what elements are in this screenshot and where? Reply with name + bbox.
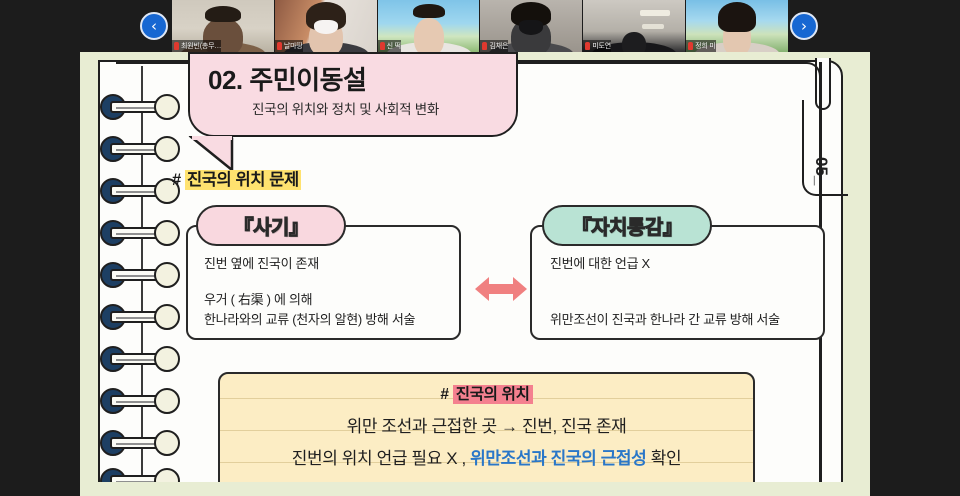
- participant-namebar: 정희 미: [686, 40, 715, 52]
- summary-line: 진번의 위치 언급 필요 X , 위만조선과 진국의 근접성 확인: [220, 444, 753, 469]
- source-label-text: 『자치통감』: [572, 211, 683, 240]
- participant-tile[interactable]: 날마땅: [275, 0, 377, 52]
- participant-hair: [205, 6, 241, 22]
- page-number: 05_: [811, 157, 831, 187]
- participant-namebar: 신 떡: [378, 40, 401, 52]
- hash-marker: #: [440, 386, 452, 403]
- microphone-muted-icon: [482, 42, 487, 50]
- summary-line: 위만 조선과 근접한 곳 → 진번, 진국 존재: [220, 412, 753, 437]
- ceiling-light: [642, 24, 664, 29]
- face-mask: [314, 20, 338, 34]
- source-label-text: 『사기』: [234, 211, 309, 240]
- microphone-muted-icon: [380, 42, 385, 50]
- microphone-muted-icon: [174, 42, 179, 50]
- participant-tile[interactable]: 김채은: [480, 0, 582, 52]
- ring-right-cap: [154, 220, 180, 246]
- ceiling-light: [640, 10, 670, 16]
- spiral-ring: [100, 304, 180, 330]
- spiral-ring: [100, 346, 180, 372]
- card-line: 한나라와의 교류 (천자의 알현) 방해 서술: [204, 309, 415, 328]
- spiral-ring: [100, 136, 180, 162]
- participant-name: 미도연: [592, 41, 611, 51]
- slide-title-bubble: 02. 주민이동설 진국의 위치와 정치 및 사회적 변화: [188, 52, 518, 137]
- ring-right-cap: [154, 346, 180, 372]
- spiral-ring: [100, 94, 180, 120]
- participant-face: [414, 18, 444, 52]
- ring-right-cap: [154, 430, 180, 456]
- spiral-ring: [100, 430, 180, 456]
- summary-line-part: 확인: [646, 449, 681, 468]
- ring-right-cap: [154, 262, 180, 288]
- summary-line-emphasis: 위만조선과 진국의 근접성: [470, 449, 646, 468]
- participant-face: [622, 32, 646, 52]
- participant-tiles: 최원빈(총무… 날마땅 신 떡: [172, 0, 788, 52]
- video-filmstrip: ‹ 최원빈(총무… 날마땅: [0, 0, 960, 52]
- participant-name: 최원빈(총무…: [181, 41, 221, 51]
- ring-right-cap: [154, 304, 180, 330]
- card-line: 위만조선이 진국과 한나라 간 교류 방해 서술: [550, 309, 780, 328]
- summary-heading: # 진국의 위치: [220, 382, 753, 404]
- summary-heading-text: 진국의 위치: [453, 385, 533, 404]
- ring-right-cap: [154, 136, 180, 162]
- slide-bottom-band: [80, 488, 870, 496]
- participant-namebar: 최원빈(총무…: [172, 40, 221, 52]
- microphone-muted-icon: [688, 42, 693, 50]
- double-arrow-icon: [475, 274, 527, 304]
- ring-right-cap: [154, 388, 180, 414]
- participant-namebar: 미도연: [583, 40, 611, 52]
- source-card-sagi: 『사기』 진번 옆에 진국이 존재 우거 ( 右渠 ) 에 의해 한나라와의 교…: [186, 225, 461, 340]
- previous-participants-button[interactable]: ‹: [140, 12, 168, 40]
- summary-box: # 진국의 위치 위만 조선과 근접한 곳 → 진번, 진국 존재 진번의 위치…: [218, 372, 755, 496]
- participant-tile[interactable]: 신 떡: [378, 0, 480, 52]
- participant-tile[interactable]: 최원빈(총무…: [172, 0, 274, 52]
- participant-namebar: 날마땅: [275, 40, 303, 52]
- participant-name: 김채은: [489, 41, 508, 51]
- spiral-ring: [100, 178, 180, 204]
- face-mask: [519, 20, 543, 35]
- section-heading-text: 진국의 위치 문제: [185, 170, 301, 190]
- chevron-right-icon: ›: [792, 14, 816, 38]
- microphone-muted-icon: [277, 42, 282, 50]
- next-participants-button[interactable]: ›: [790, 12, 818, 40]
- page-subtitle: 진국의 위치와 정치 및 사회적 변화: [252, 98, 439, 118]
- participant-hair: [413, 4, 445, 18]
- participant-namebar: 김채은: [480, 40, 508, 52]
- participant-name: 정희 미: [695, 41, 715, 51]
- summary-line-part: 진번의 위치 언급 필요 X ,: [292, 449, 470, 468]
- ring-right-cap: [154, 94, 180, 120]
- spiral-ring: [100, 262, 180, 288]
- participant-hair: [718, 2, 756, 32]
- shared-slide: 05_ 02. 주민이동설 진국의 위치와 정치 및 사회적 변화 # 진국의 …: [80, 52, 870, 496]
- source-label-badge: 『사기』: [196, 205, 346, 246]
- spiral-binding: [96, 66, 188, 496]
- card-line: 진번에 대한 언급 X: [550, 253, 650, 272]
- spiral-ring: [100, 388, 180, 414]
- participant-name: 날마땅: [284, 41, 303, 51]
- chevron-left-icon: ‹: [142, 14, 166, 38]
- source-card-jachitonggam: 『자치통감』 진번에 대한 언급 X 위만조선이 진국과 한나라 간 교류 방해…: [530, 225, 825, 340]
- section-heading: # 진국의 위치 문제: [172, 166, 301, 190]
- participant-name: 신 떡: [387, 41, 401, 51]
- card-line: 진번 옆에 진국이 존재: [204, 253, 319, 272]
- card-line: 우거 ( 右渠 ) 에 의해: [204, 289, 312, 308]
- page-title: 02. 주민이동설: [208, 60, 366, 97]
- participant-tile[interactable]: 미도연: [583, 0, 685, 52]
- spiral-ring: [100, 220, 180, 246]
- hash-marker: #: [172, 171, 185, 189]
- source-label-badge: 『자치통감』: [542, 205, 712, 246]
- participant-tile[interactable]: 정희 미: [686, 0, 788, 52]
- microphone-muted-icon: [585, 42, 590, 50]
